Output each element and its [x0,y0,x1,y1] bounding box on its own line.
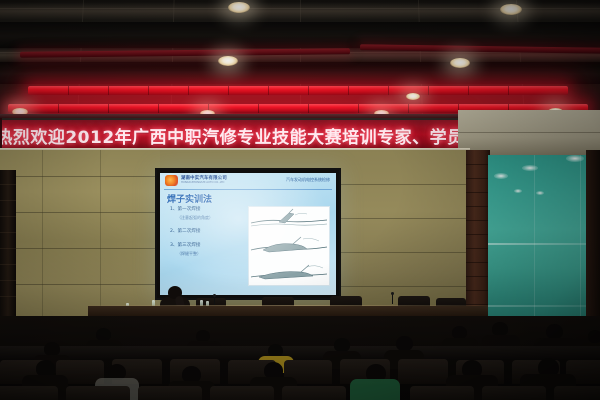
left-doorway [0,170,16,320]
audience-head [334,338,350,352]
projection-screen-frame: 湖南中实汽车有限公司 HUNAN ZHONGSHI AUTO CO.,LTD 汽… [155,168,341,300]
glass-reflection [536,191,544,195]
bullet-main: 1、第一次焊接 [170,206,242,212]
bullet-sub: （注意起弧的角度） [177,215,242,221]
company-logo-icon [165,175,178,186]
seat-back [282,386,346,400]
figure-panel-2 [249,233,329,259]
ceiling-beam [0,22,600,48]
slide-header-rule [164,189,332,190]
audience-area [0,316,600,400]
banner-text: 热烈欢迎2012年广西中职汽修专业技能大赛培训专家、学员 [2,120,458,150]
slide-bullet-list: 1、第一次焊接 （注意起弧的角度） 2、第二次焊接 3、第三次焊接 （焊缝平整） [170,206,242,264]
audience-head [396,336,413,351]
seat-back [482,386,546,400]
ceiling-downlight [406,93,420,100]
ceiling-downlight [500,4,522,15]
upper-wall-seam [458,132,600,133]
figure-panel-3 [249,259,329,285]
audience-head [588,330,600,343]
ceiling [0,0,600,118]
glass-reflection [566,155,584,162]
slide-bullet: 2、第二次焊接 [170,228,242,234]
figure-panel-1 [249,207,329,233]
seat-back [138,386,202,400]
audience-shoulders [350,379,400,400]
glass-reflection [522,165,538,171]
ceiling-downlight [218,56,238,66]
glass-reflection [514,189,522,193]
slide-company-subtitle: HUNAN ZHONGSHI AUTO CO.,LTD [181,181,224,184]
microphone [392,294,393,304]
slide-bullet: 1、第一次焊接 （注意起弧的角度） [170,206,242,221]
glass-reflection [494,173,508,179]
seat-row [0,346,600,360]
seat-back [66,386,130,400]
slide-figure [248,206,330,286]
seat-back [0,386,58,400]
projection-screen: 湖南中实汽车有限公司 HUNAN ZHONGSHI AUTO CO.,LTD 汽… [160,173,336,295]
audience-head [44,342,60,356]
slide-header-note: 汽车发动机电控系统检修 [286,177,330,183]
audience-head [492,322,508,336]
lecture-hall-photo: 热烈欢迎2012年广西中职汽修专业技能大赛培训专家、学员 [0,0,600,400]
seat-back [398,359,448,384]
seat-back [210,386,274,400]
ceiling-led-strip [28,86,568,95]
ceiling-downlight [228,2,250,13]
slide-bullet: 3、第三次焊接 （焊缝平整） [170,242,242,257]
slide-title: 焊子实训法 [167,192,212,205]
ceiling-beam [0,62,600,84]
welcome-banner: 热烈欢迎2012年广西中职汽修专业技能大赛培训专家、学员 [2,118,458,152]
bullet-main: 2、第二次焊接 [170,228,242,234]
seat-back [410,386,474,400]
slide-header: 湖南中实汽车有限公司 HUNAN ZHONGSHI AUTO CO.,LTD 汽… [160,173,336,189]
microphone [214,296,215,305]
seat-back [554,386,600,400]
bullet-main: 3、第三次焊接 [170,242,242,248]
audience-head [546,324,563,339]
ceiling-downlight [450,58,470,68]
bullet-sub: （焊缝平整） [177,251,242,257]
